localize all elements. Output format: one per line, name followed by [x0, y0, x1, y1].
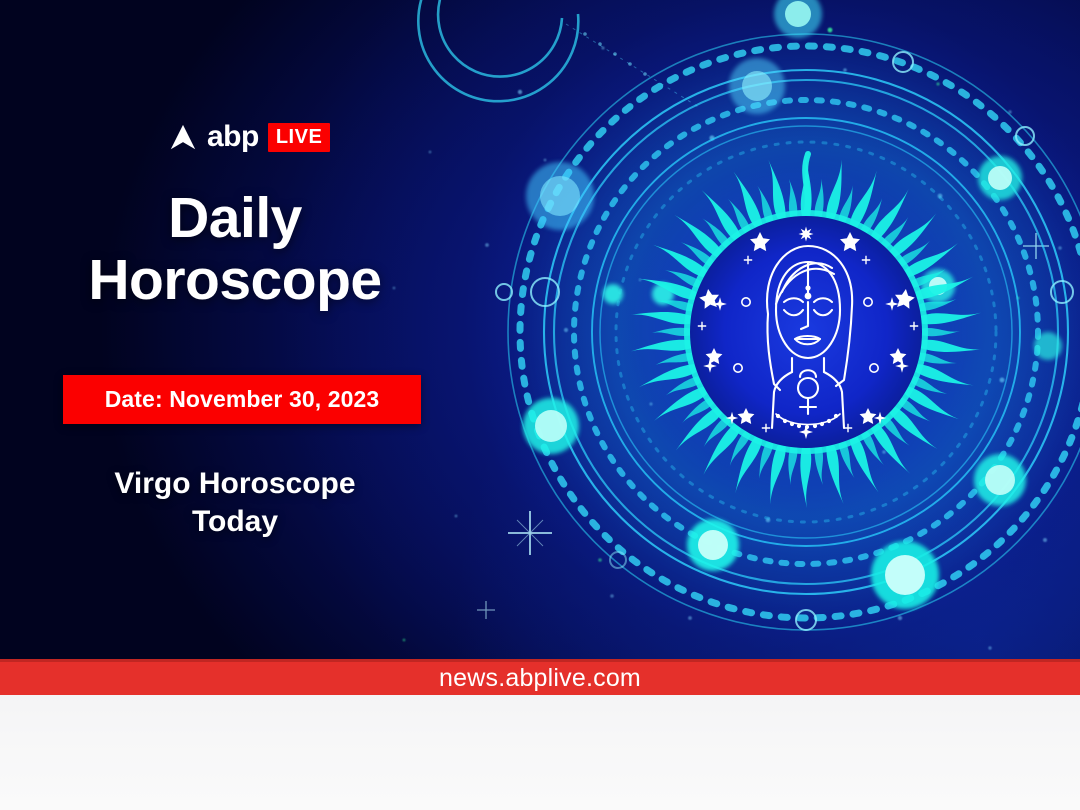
- abp-arrow-logo-icon: [168, 122, 198, 152]
- website-banner: news.abplive.com: [0, 659, 1080, 695]
- website-url: news.abplive.com: [439, 664, 641, 693]
- date-badge-text: Date: November 30, 2023: [105, 386, 380, 413]
- date-badge: Date: November 30, 2023: [63, 375, 421, 424]
- text-column: abp LIVE Daily Horoscope Date: November …: [0, 0, 470, 668]
- brand-name: abp: [207, 122, 259, 152]
- subtitle-line-1: Virgo Horoscope: [0, 465, 470, 503]
- title-line-2: Horoscope: [0, 250, 470, 312]
- dotted-chain: [583, 32, 647, 76]
- subtitle-line-2: Today: [0, 503, 470, 541]
- sun-disc: [690, 216, 922, 448]
- title-line-1: Daily: [0, 188, 470, 250]
- live-badge: LIVE: [268, 123, 330, 152]
- subtitle: Virgo Horoscope Today: [0, 465, 470, 542]
- abp-live-logo[interactable]: abp LIVE: [168, 122, 330, 152]
- blurred-page-backdrop: [0, 690, 1080, 810]
- page-title: Daily Horoscope: [0, 188, 470, 311]
- poster-canvas: abp LIVE Daily Horoscope Date: November …: [0, 0, 1080, 810]
